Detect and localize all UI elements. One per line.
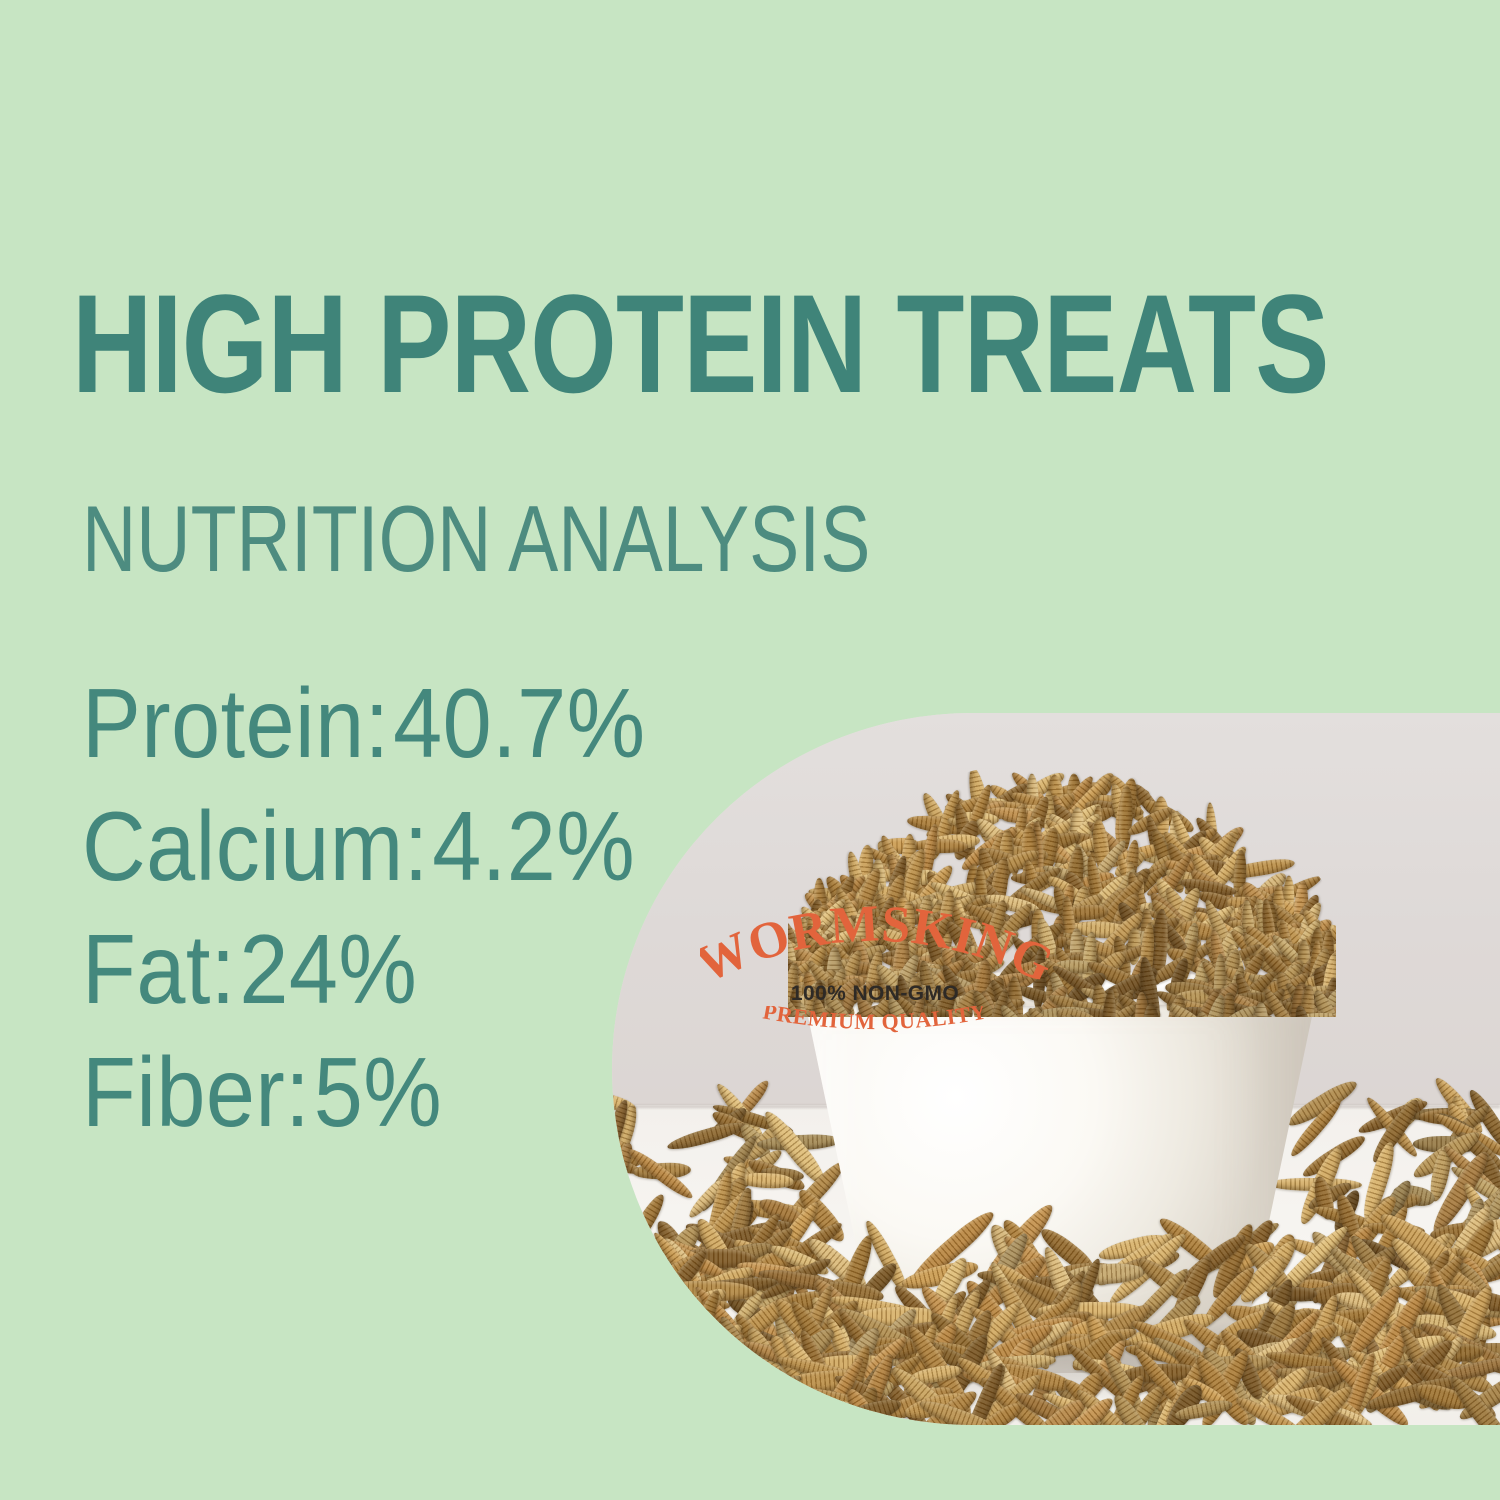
list-item: Fiber:5% bbox=[82, 1031, 586, 1154]
nutrient-value-fiber: 5% bbox=[314, 1037, 442, 1147]
page-title: HIGH PROTEIN TREATS bbox=[72, 274, 1177, 414]
nutrient-value-fat: 24% bbox=[239, 914, 417, 1024]
nutrient-label-fat: Fat: bbox=[82, 914, 236, 1024]
scattered-larvae-front bbox=[612, 1233, 1500, 1425]
larva bbox=[666, 1118, 748, 1154]
nutrient-label-fiber: Fiber: bbox=[82, 1037, 310, 1147]
nutrient-label-protein: Protein: bbox=[82, 668, 390, 778]
nutrition-analysis-list: Protein:40.7% Calcium:4.2% Fat:24% Fiber… bbox=[82, 662, 642, 1154]
list-item: Fat:24% bbox=[82, 908, 586, 1031]
nutrition-infographic: HIGH PROTEIN TREATS NUTRITION ANALYSIS P… bbox=[0, 0, 1500, 1500]
product-photo: WORMSKING 100% NON-GMO PREMIUM QUALITY bbox=[612, 713, 1500, 1425]
larvae-heap bbox=[788, 749, 1336, 1017]
nutrient-label-calcium: Calcium: bbox=[82, 791, 429, 901]
list-item: Calcium:4.2% bbox=[82, 785, 586, 908]
nutrient-value-calcium: 4.2% bbox=[432, 791, 635, 901]
page-subtitle: NUTRITION ANALYSIS bbox=[82, 492, 870, 586]
nutrient-value-protein: 40.7% bbox=[393, 668, 645, 778]
list-item: Protein:40.7% bbox=[82, 662, 586, 785]
